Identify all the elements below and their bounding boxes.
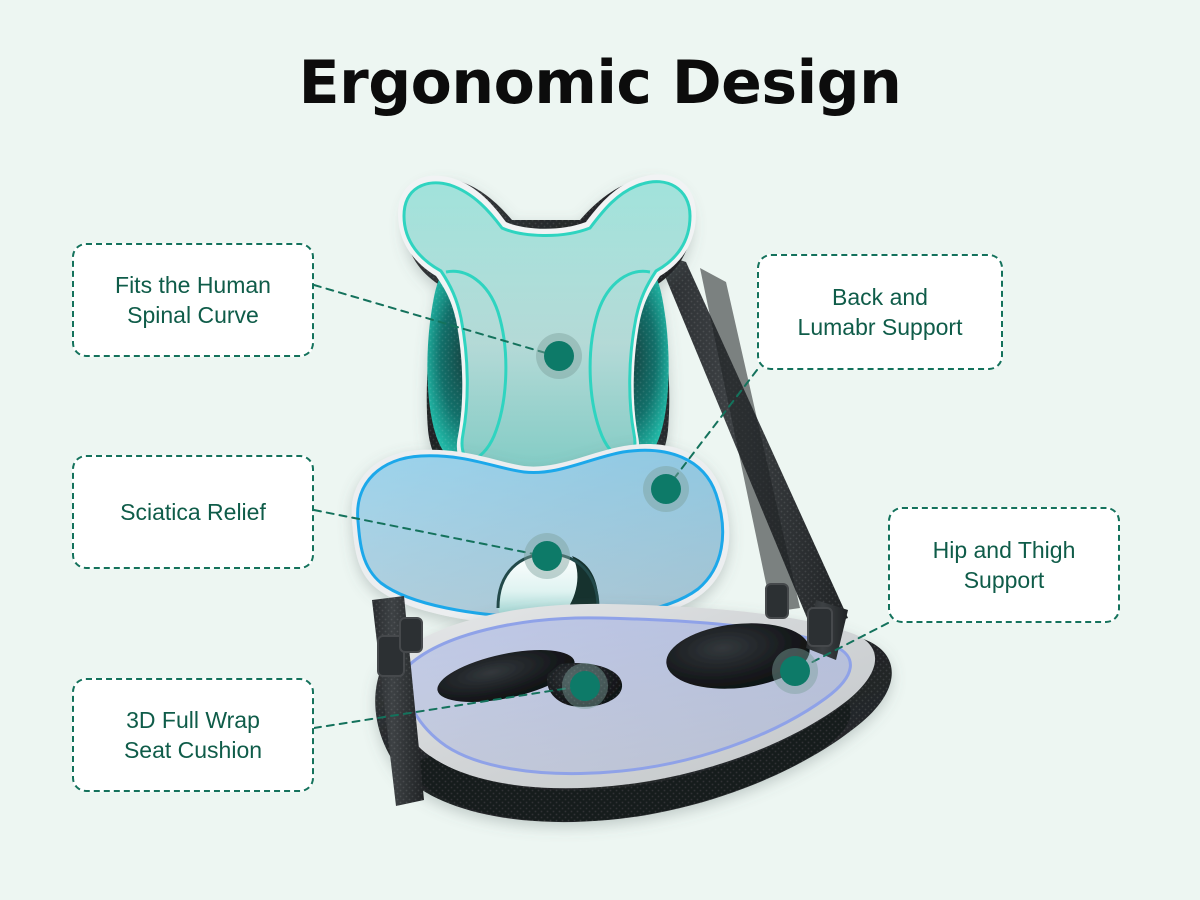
connector-spinal [314,285,556,356]
callout-sciatica-relief[interactable]: Sciatica Relief [72,455,314,569]
connector-cushion [314,686,582,728]
hotspot-seat-left[interactable] [562,663,608,709]
callout-label: 3D Full Wrap Seat Cushion [124,705,262,766]
infographic-canvas: Ergonomic Design [0,0,1200,900]
hotspot-lumbar-upper[interactable] [643,466,689,512]
callout-hip-and-thigh-support[interactable]: Hip and Thigh Support [888,507,1120,623]
callout-back-and-lumbar-support[interactable]: Back and Lumabr Support [757,254,1003,370]
hotspot-seat-right[interactable] [772,648,818,694]
callout-label: Back and Lumabr Support [798,282,963,343]
callout-label: Fits the Human Spinal Curve [115,270,271,331]
callout-label: Sciatica Relief [120,497,266,527]
callout-3d-full-wrap-seat-cushion[interactable]: 3D Full Wrap Seat Cushion [72,678,314,792]
connector-sciatica [314,510,544,556]
hotspot-backrest[interactable] [536,333,582,379]
callout-fits-the-human-spinal-curve[interactable]: Fits the Human Spinal Curve [72,243,314,357]
callout-label: Hip and Thigh Support [933,535,1076,596]
hotspot-lumbar-lower[interactable] [524,533,570,579]
